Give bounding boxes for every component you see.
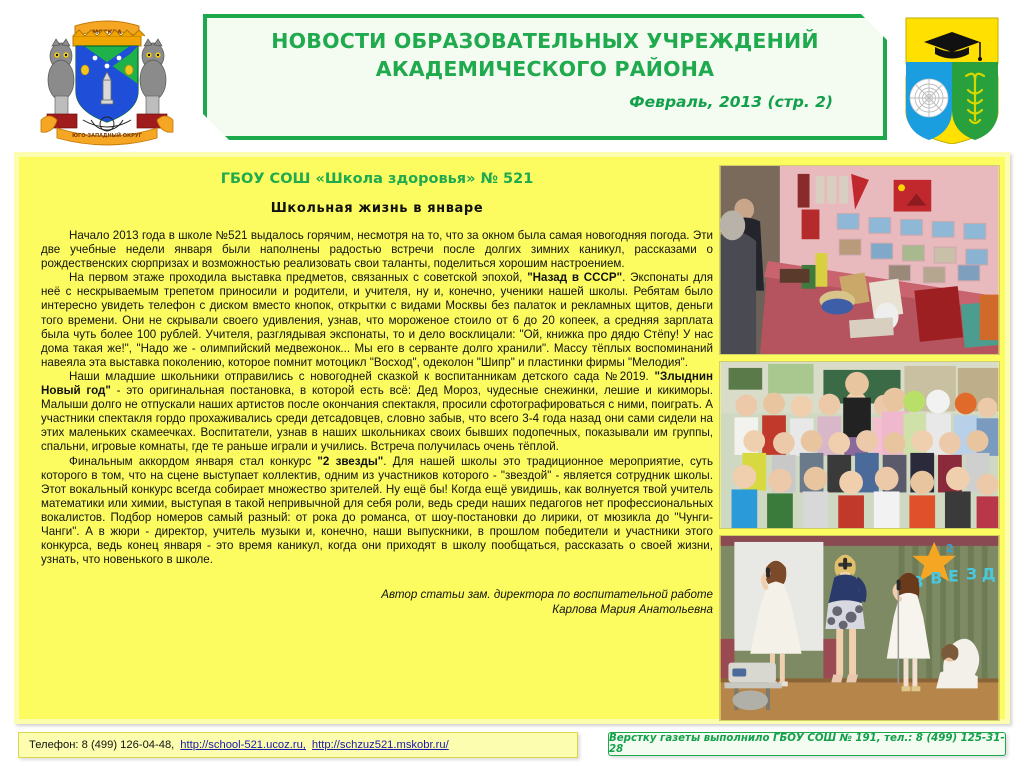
page-header: МОСКВА bbox=[0, 0, 1024, 152]
svg-text:2: 2 bbox=[946, 542, 954, 555]
footer-credit-bar: Верстку газеты выполнило ГБОУ СОШ № 191,… bbox=[608, 732, 1006, 756]
footer-link-school-site[interactable]: http://school-521.ucoz.ru, bbox=[180, 739, 306, 751]
article-paragraph-3: Наши младшие школьники отправились с нов… bbox=[41, 370, 713, 455]
moscow-south-west-district-coat-of-arms-icon: МОСКВА bbox=[33, 8, 181, 148]
banner-title-line1: НОВОСТИ ОБРАЗОВАТЕЛЬНЫХ УЧРЕЖДЕНИЙ bbox=[239, 28, 851, 56]
academichesky-district-coat-of-arms-icon bbox=[900, 12, 1004, 144]
issue-date: Февраль, 2013 (стр. 2) bbox=[239, 93, 851, 111]
photo-exhibition bbox=[719, 165, 1000, 355]
footer-credit-text: Верстку газеты выполнило ГБОУ СОШ № 191,… bbox=[609, 733, 1005, 755]
article-paragraph-2: На первом этаже проходила выставка предм… bbox=[41, 271, 713, 370]
article-signature: Автор статьи зам. директора по воспитате… bbox=[41, 587, 713, 617]
signature-author: Карлова Мария Анатольевна bbox=[41, 602, 713, 617]
article-heading: Школьная жизнь в январе bbox=[41, 201, 713, 216]
signature-role: Автор статьи зам. директора по воспитате… bbox=[41, 587, 713, 602]
svg-text:Е: Е bbox=[948, 567, 959, 586]
banner-title: НОВОСТИ ОБРАЗОВАТЕЛЬНЫХ УЧРЕЖДЕНИЙ АКАДЕ… bbox=[239, 28, 851, 83]
photo-children bbox=[719, 361, 1000, 529]
footer-link-mskobr[interactable]: http://schzuz521.mskobr.ru/ bbox=[312, 739, 449, 751]
article-paragraph-1: Начало 2013 года в школе №521 выдалось г… bbox=[41, 229, 713, 271]
newsletter-page-body: ГБОУ СОШ «Школа здоровья» № 521 Школьная… bbox=[14, 152, 1010, 724]
footer-phone: Телефон: 8 (499) 126-04-48, bbox=[29, 739, 174, 751]
footer-contact-bar: Телефон: 8 (499) 126-04-48, http://schoo… bbox=[18, 732, 578, 758]
article-paragraph-4: Финальным аккордом января стал конкурс "… bbox=[41, 455, 713, 568]
newsletter-banner: НОВОСТИ ОБРАЗОВАТЕЛЬНЫХ УЧРЕЖДЕНИЙ АКАДЕ… bbox=[203, 14, 887, 140]
svg-text:ЮГО-ЗАПАДНЫЙ ОКРУГ: ЮГО-ЗАПАДНЫЙ ОКРУГ bbox=[72, 131, 142, 139]
svg-text:В: В bbox=[930, 568, 942, 587]
svg-text:Д: Д bbox=[982, 565, 996, 584]
photo-concert: 2 ЗВ ЕЗД bbox=[719, 535, 1000, 721]
school-name-heading: ГБОУ СОШ «Школа здоровья» № 521 bbox=[41, 171, 713, 187]
svg-text:З: З bbox=[966, 565, 977, 584]
article-column: ГБОУ СОШ «Школа здоровья» № 521 Школьная… bbox=[41, 163, 713, 719]
banner-title-line2: АКАДЕМИЧЕСКОГО РАЙОНА bbox=[239, 56, 851, 84]
